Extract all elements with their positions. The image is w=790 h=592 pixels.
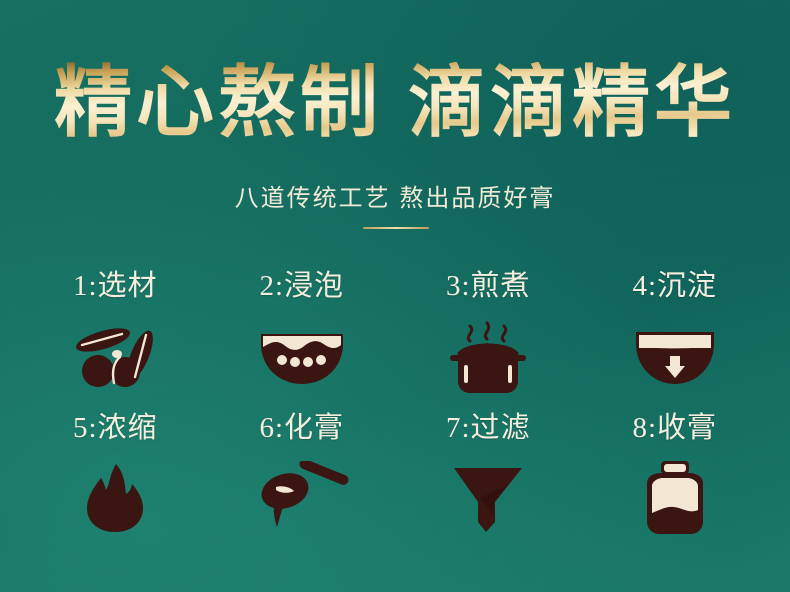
steaming-pot-icon (442, 317, 534, 395)
gold-divider (363, 227, 429, 229)
promo-banner: 精心熬制滴滴精华 八道传统工艺 熬出品质好膏 1:选材 (0, 0, 790, 592)
step-label: 1:选材 (73, 272, 158, 301)
step-item: 5:浓缩 (22, 414, 209, 556)
process-steps-grid: 1:选材 (22, 272, 768, 556)
step-label: 6:化膏 (259, 414, 344, 443)
step-label: 2:浸泡 (259, 272, 344, 301)
step-label: 3:煎煮 (446, 272, 531, 301)
soaking-bowl-icon (257, 317, 347, 395)
step-label-holder: 7:过滤 (446, 414, 531, 443)
title-segment-1: 精心熬制 (54, 59, 382, 146)
step-item: 4:沉淀 (582, 272, 769, 414)
title-segment-2: 滴滴精华 (408, 59, 736, 146)
dripping-ladle-icon (252, 459, 352, 537)
olive-berries-icon (67, 317, 163, 395)
step-item: 6:化膏 (209, 414, 396, 556)
sediment-bowl-icon (632, 317, 718, 395)
step-item: 1:选材 (22, 272, 209, 414)
step-label-holder: 3:煎煮 (446, 272, 531, 301)
funnel-icon (448, 459, 528, 537)
step-item: 8:收膏 (582, 414, 769, 556)
step-item: 2:浸泡 (209, 272, 396, 414)
subtitle: 八道传统工艺 熬出品质好膏 (0, 178, 790, 213)
step-label: 5:浓缩 (73, 414, 158, 443)
page-title: 精心熬制滴滴精华 (54, 62, 736, 145)
step-label: 4:沉淀 (632, 272, 717, 301)
step-label: 8:收膏 (632, 414, 717, 443)
step-item: 3:煎煮 (395, 272, 582, 414)
step-item: 7:过滤 (395, 414, 582, 556)
step-label: 7:过滤 (446, 414, 531, 443)
flame-icon (83, 459, 147, 537)
paste-jar-icon (639, 459, 711, 537)
title-block: 精心熬制滴滴精华 (0, 62, 790, 145)
